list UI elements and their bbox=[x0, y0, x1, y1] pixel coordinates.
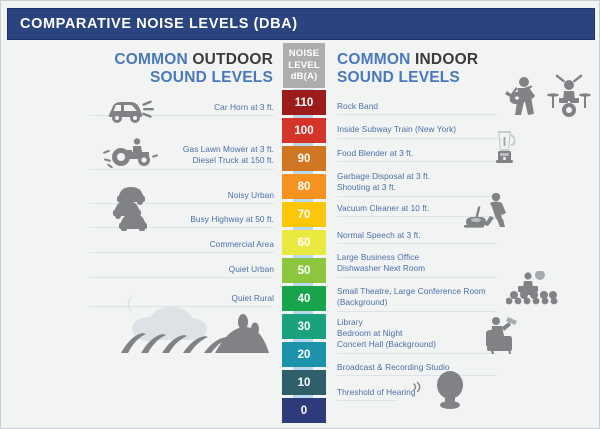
indoor-row-office: Large Business Office bbox=[337, 252, 527, 263]
indoor-rule-11 bbox=[337, 400, 397, 401]
scale-header-line1: NOISE bbox=[289, 48, 320, 60]
scale-block-0: 0 bbox=[282, 398, 326, 423]
scale-block-110: 110 bbox=[282, 90, 326, 115]
scale-block-10: 10 bbox=[282, 370, 326, 395]
scale-block-90: 90 bbox=[282, 146, 326, 171]
indoor-rule-3 bbox=[337, 161, 497, 162]
indoor-row-speech: Normal Speech at 3 ft. bbox=[337, 230, 527, 241]
outdoor-header-line1-bold: OUTDOOR bbox=[192, 51, 273, 68]
indoor-rule-1 bbox=[337, 114, 497, 115]
indoor-rule-7 bbox=[337, 277, 497, 278]
car-horn-icon bbox=[105, 95, 157, 127]
scale-header-line3: dB(A) bbox=[291, 71, 318, 83]
person-reading-armchair-icon bbox=[484, 316, 528, 354]
tractor-mower-icon bbox=[103, 138, 159, 168]
scale-block-20: 20 bbox=[282, 342, 326, 367]
outdoor-header-line2: SOUND LEVELS bbox=[150, 69, 273, 86]
indoor-header-line1-plain: COMMON bbox=[337, 51, 415, 68]
vacuum-cleaner-icon bbox=[464, 193, 514, 229]
indoor-rule-6 bbox=[337, 243, 497, 244]
indoor-row-studio: Broadcast & Recording Studio bbox=[337, 362, 527, 373]
outdoor-row-commercial-area: Commercial Area bbox=[89, 239, 274, 250]
scale-block-40: 40 bbox=[282, 286, 326, 311]
indoor-row-dishwasher: Dishwasher Next Room bbox=[337, 263, 527, 274]
scale-block-50: 50 bbox=[282, 258, 326, 283]
scale-block-100: 100 bbox=[282, 118, 326, 143]
indoor-row-theatre-background: (Background) bbox=[337, 297, 527, 308]
indoor-rule-2 bbox=[337, 138, 497, 139]
title-bar: COMPARATIVE NOISE LEVELS (DBA) bbox=[7, 8, 595, 40]
traffic-cars-icon bbox=[111, 187, 151, 231]
indoor-row-theatre: Small Theatre, Large Conference Room bbox=[337, 286, 527, 297]
rural-landscape-icon bbox=[119, 291, 269, 361]
outdoor-column-header: COMMON OUTDOOR SOUND LEVELS bbox=[101, 51, 273, 87]
drummer-icon bbox=[547, 73, 591, 117]
indoor-row-shouting: Shouting at 3 ft. bbox=[337, 182, 527, 193]
infographic-page: COMPARATIVE NOISE LEVELS (DBA) COMMON OU… bbox=[0, 0, 600, 429]
blender-icon bbox=[491, 129, 519, 165]
scale-block-30: 30 bbox=[282, 314, 326, 339]
scale-block-80: 80 bbox=[282, 174, 326, 199]
scale-header-line2: LEVEL bbox=[288, 60, 320, 72]
indoor-row-threshold: Threshold of Hearing bbox=[337, 387, 527, 398]
conference-audience-icon bbox=[506, 271, 564, 305]
outdoor-rule-6 bbox=[89, 277, 274, 278]
scale-block-70: 70 bbox=[282, 202, 326, 227]
head-silhouette-icon bbox=[433, 371, 467, 409]
indoor-row-garbage-disposal: Garbage Disposal at 3 ft. bbox=[337, 171, 527, 182]
outdoor-row-quiet-urban: Quiet Urban bbox=[89, 264, 274, 275]
outdoor-rule-5 bbox=[89, 252, 274, 253]
outdoor-rule-2 bbox=[89, 169, 274, 170]
indoor-column-header: COMMON INDOOR SOUND LEVELS bbox=[337, 51, 527, 87]
page-title: COMPARATIVE NOISE LEVELS (DBA) bbox=[20, 16, 298, 32]
scale-column-header: NOISE LEVEL dB(A) bbox=[283, 43, 325, 88]
indoor-rule-8 bbox=[337, 311, 497, 312]
indoor-header-line1-bold: INDOOR bbox=[415, 51, 478, 68]
ear-hearing-icon bbox=[411, 380, 425, 394]
indoor-header-line2: SOUND LEVELS bbox=[337, 69, 460, 86]
indoor-rule-10 bbox=[337, 375, 497, 376]
scale-block-60: 60 bbox=[282, 230, 326, 255]
guitarist-icon bbox=[502, 76, 538, 116]
outdoor-header-line1-plain: COMMON bbox=[114, 51, 192, 68]
indoor-rule-9 bbox=[337, 353, 497, 354]
indoor-row-rock-band: Rock Band bbox=[337, 101, 527, 112]
